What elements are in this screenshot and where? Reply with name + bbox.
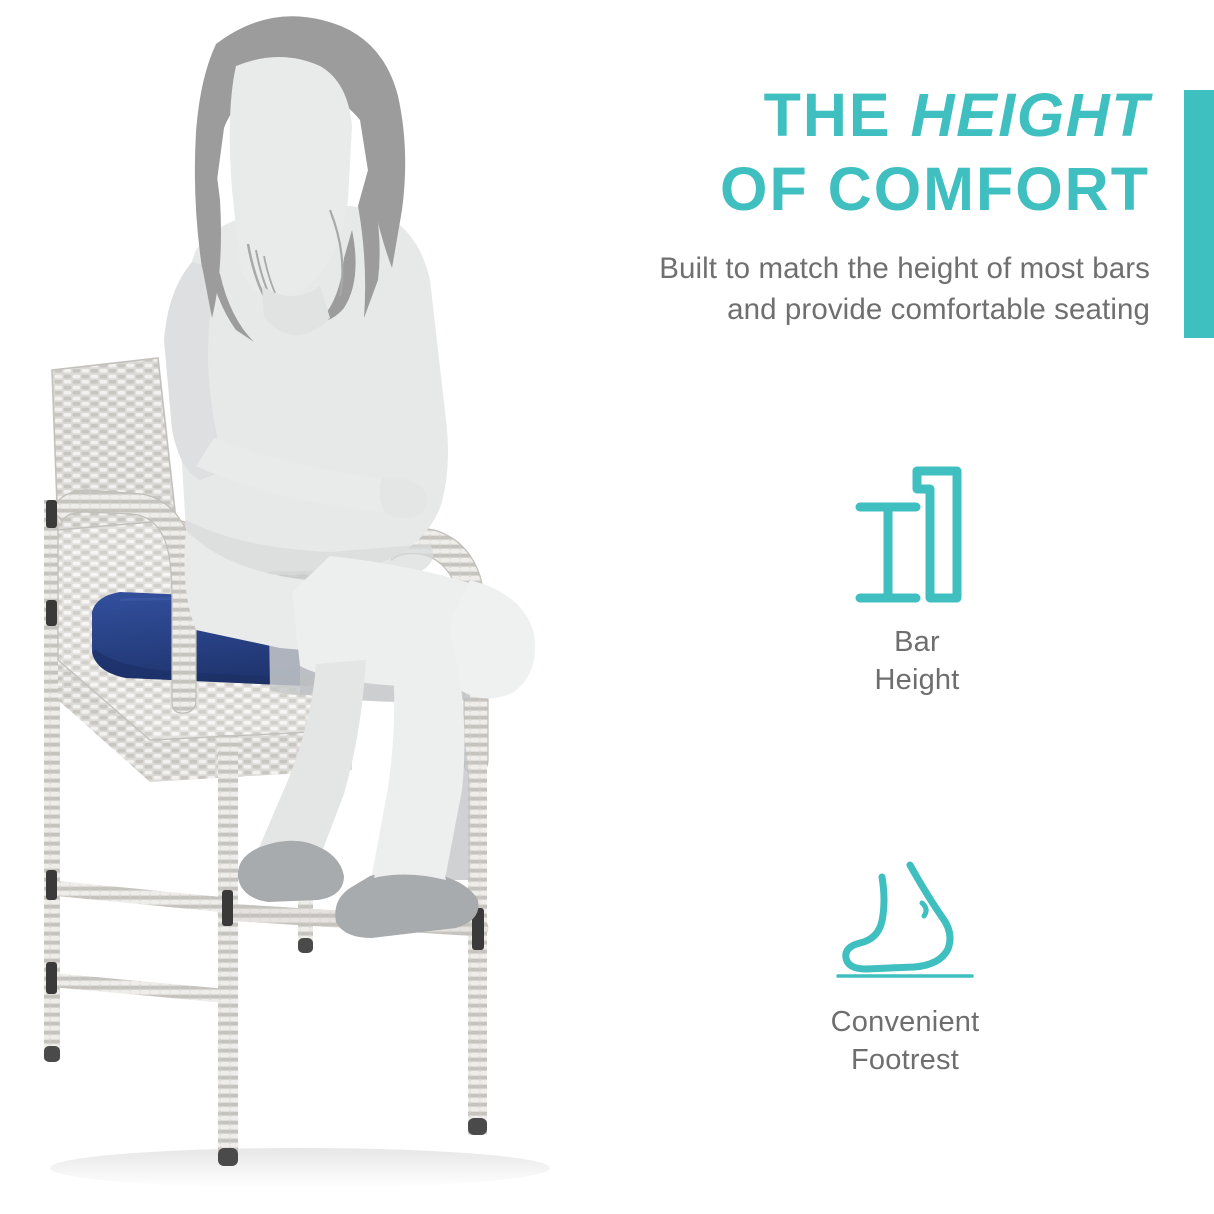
page-title: THE HEIGHT [430,78,1150,152]
headline-block: THE HEIGHT OF COMFORT Built to match the… [430,78,1150,330]
subtitle-line-1: Built to match the height of most bars [430,249,1150,290]
floor-shadow [50,1148,550,1188]
bar-height-icon [752,455,1082,605]
feature-bar-height-label-line2: Height [752,661,1082,699]
page-subtitle: Built to match the height of most bars a… [430,249,1150,330]
feature-bar-height: Bar Height [752,455,1082,700]
teal-accent-bar [1184,90,1214,338]
headline-emphasis: HEIGHT [911,81,1150,149]
foot-on-footrest-icon-glyph [830,859,980,985]
feature-bar-height-label: Bar Height [752,623,1082,700]
headline-line1-prefix: THE [764,81,911,149]
feature-bar-height-label-line1: Bar [752,623,1082,661]
page-title-line2: OF COMFORT [430,152,1150,226]
bar-height-icon-glyph [853,459,981,605]
feature-footrest-label-line2: Footrest [740,1041,1070,1079]
subtitle-line-2: and provide comfortable seating [430,290,1150,331]
feature-footrest-label-line1: Convenient [740,1003,1070,1041]
feature-convenient-footrest: Convenient Footrest [740,835,1070,1080]
feature-footrest-label: Convenient Footrest [740,1003,1070,1080]
foot-on-footrest-icon [740,835,1070,985]
marketing-image-canvas: THE HEIGHT OF COMFORT Built to match the… [0,0,1214,1214]
